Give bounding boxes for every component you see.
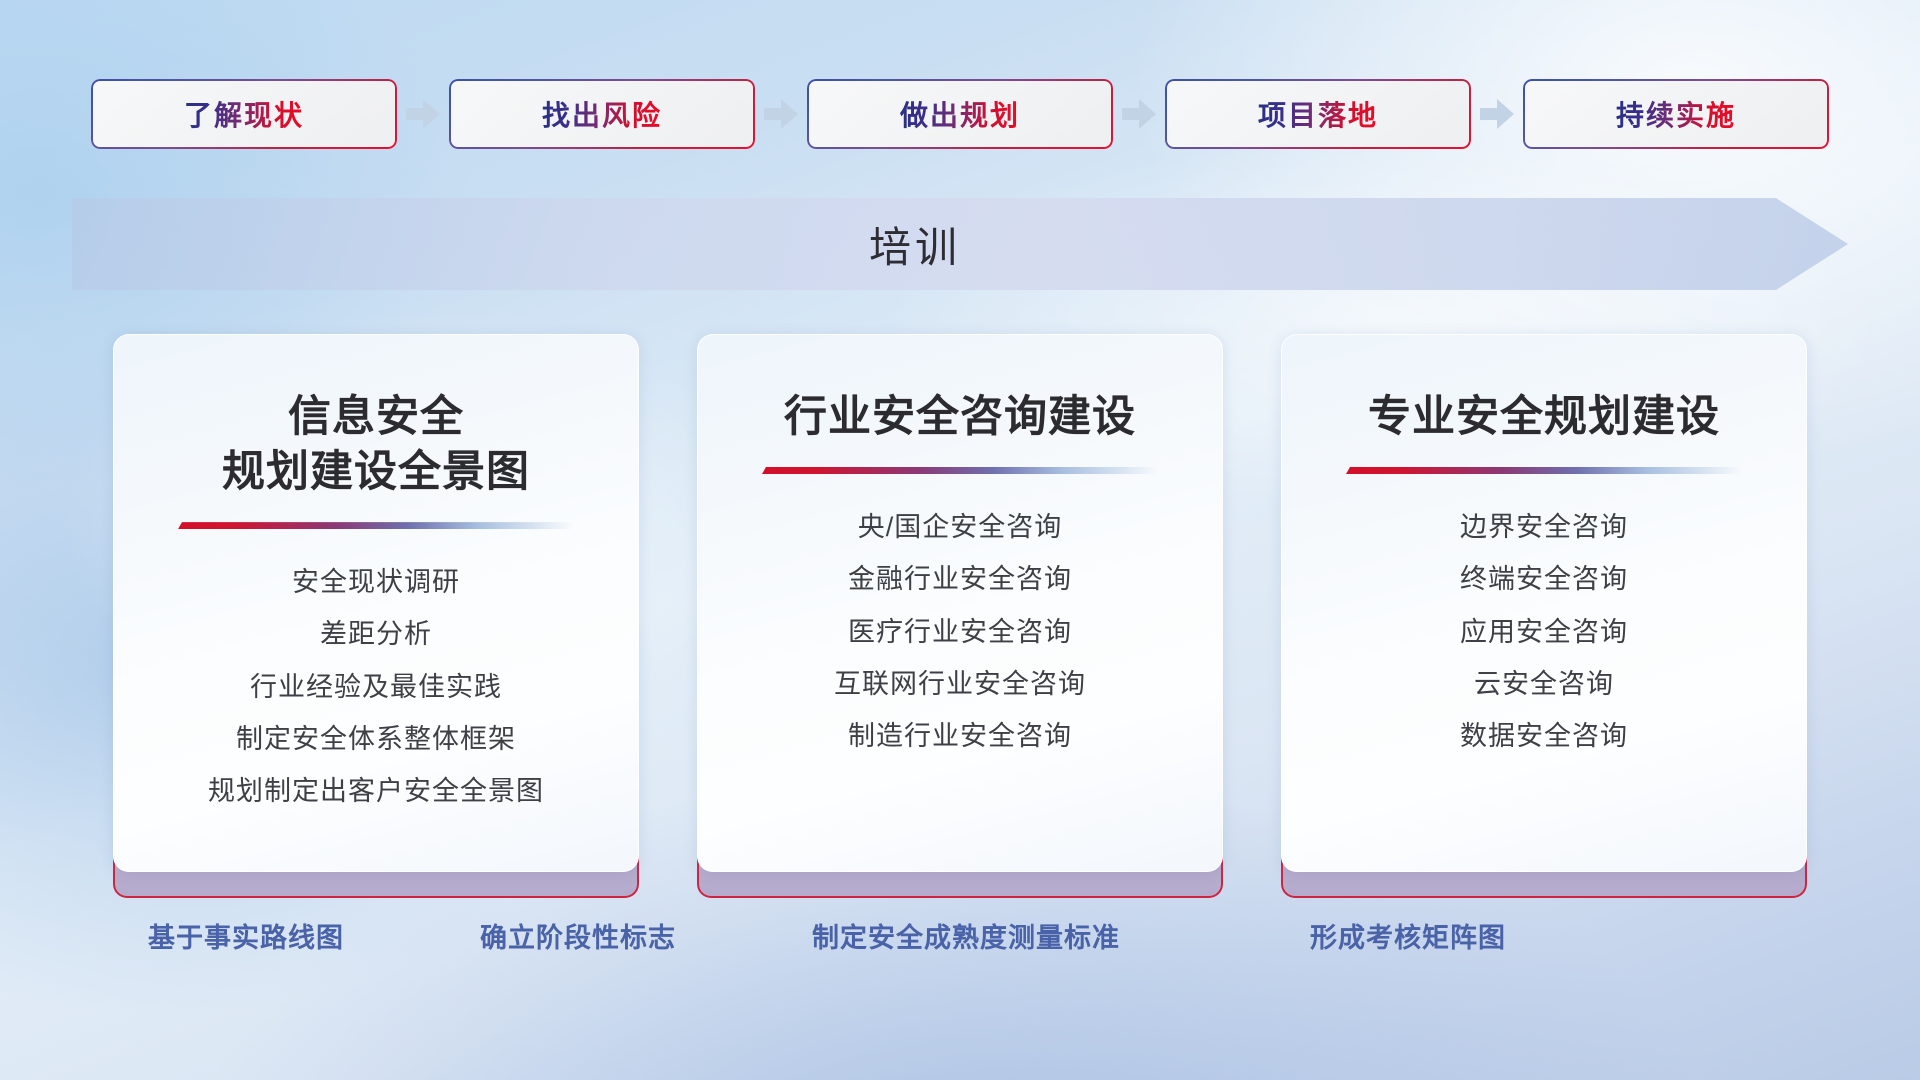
card-title: 专业安全规划建设 [1368, 390, 1720, 445]
card-divider [762, 467, 1158, 474]
footer-label-row: 基于事实路线图确立阶段性标志制定安全成熟度测量标准形成考核矩阵图 [0, 916, 1920, 974]
process-step-1[interactable]: 了解现状 [91, 79, 397, 149]
list-item: 安全现状调研 [292, 563, 460, 601]
step-arrow-right-icon [397, 78, 449, 150]
process-step-label: 找出风险 [542, 94, 662, 134]
card-divider [1346, 467, 1742, 474]
process-step-label: 做出规划 [900, 94, 1020, 134]
card-body: 行业安全咨询建设央/国企安全咨询金融行业安全咨询医疗行业安全咨询互联网行业安全咨… [697, 334, 1223, 872]
footer-label-1: 基于事实路线图 [148, 916, 344, 955]
list-item: 金融行业安全咨询 [848, 560, 1072, 598]
list-item: 规划制定出客户安全全景图 [208, 772, 544, 810]
list-item: 差距分析 [320, 615, 432, 653]
service-card-2[interactable]: 行业安全咨询建设央/国企安全咨询金融行业安全咨询医疗行业安全咨询互联网行业安全咨… [697, 334, 1223, 872]
card-item-list: 边界安全咨询终端安全咨询应用安全咨询云安全咨询数据安全咨询 [1460, 508, 1628, 756]
card-body: 专业安全规划建设边界安全咨询终端安全咨询应用安全咨询云安全咨询数据安全咨询 [1281, 334, 1807, 872]
footer-label-3: 制定安全成熟度测量标准 [812, 916, 1120, 955]
card-body: 信息安全 规划建设全景图安全现状调研差距分析行业经验及最佳实践制定安全体系整体框… [113, 334, 639, 872]
service-card-3[interactable]: 专业安全规划建设边界安全咨询终端安全咨询应用安全咨询云安全咨询数据安全咨询 [1281, 334, 1807, 872]
list-item: 应用安全咨询 [1460, 613, 1628, 651]
list-item: 云安全咨询 [1474, 665, 1614, 703]
list-item: 行业经验及最佳实践 [250, 668, 502, 706]
card-title: 信息安全 规划建设全景图 [222, 390, 530, 500]
process-step-3[interactable]: 做出规划 [807, 79, 1113, 149]
list-item: 互联网行业安全咨询 [834, 665, 1086, 703]
list-item: 制定安全体系整体框架 [236, 720, 516, 758]
service-card-row: 信息安全 规划建设全景图安全现状调研差距分析行业经验及最佳实践制定安全体系整体框… [0, 334, 1920, 894]
step-arrow-right-icon [755, 78, 807, 150]
training-banner: 培训 [72, 198, 1848, 290]
list-item: 医疗行业安全咨询 [848, 613, 1072, 651]
service-card-1[interactable]: 信息安全 规划建设全景图安全现状调研差距分析行业经验及最佳实践制定安全体系整体框… [113, 334, 639, 872]
card-title: 行业安全咨询建设 [784, 390, 1136, 445]
process-step-label: 了解现状 [184, 94, 304, 134]
process-step-5[interactable]: 持续实施 [1523, 79, 1829, 149]
list-item: 数据安全咨询 [1460, 717, 1628, 755]
step-arrow-right-icon [1471, 78, 1523, 150]
process-step-2[interactable]: 找出风险 [449, 79, 755, 149]
list-item: 央/国企安全咨询 [858, 508, 1063, 546]
slide-stage: 了解现状找出风险做出规划项目落地持续实施 培训 信息安全 规划建设全景图安全现状… [0, 0, 1920, 1080]
card-item-list: 央/国企安全咨询金融行业安全咨询医疗行业安全咨询互联网行业安全咨询制造行业安全咨… [834, 508, 1086, 756]
footer-label-2: 确立阶段性标志 [480, 916, 676, 955]
list-item: 边界安全咨询 [1460, 508, 1628, 546]
list-item: 制造行业安全咨询 [848, 717, 1072, 755]
list-item: 终端安全咨询 [1460, 560, 1628, 598]
banner-label: 培训 [72, 198, 1848, 290]
card-item-list: 安全现状调研差距分析行业经验及最佳实践制定安全体系整体框架规划制定出客户安全全景… [208, 563, 544, 811]
step-arrow-right-icon [1113, 78, 1165, 150]
process-step-4[interactable]: 项目落地 [1165, 79, 1471, 149]
process-step-label: 持续实施 [1616, 94, 1736, 134]
card-divider [178, 522, 574, 529]
process-step-row: 了解现状找出风险做出规划项目落地持续实施 [0, 78, 1920, 150]
footer-label-4: 形成考核矩阵图 [1310, 916, 1506, 955]
process-step-label: 项目落地 [1258, 94, 1378, 134]
